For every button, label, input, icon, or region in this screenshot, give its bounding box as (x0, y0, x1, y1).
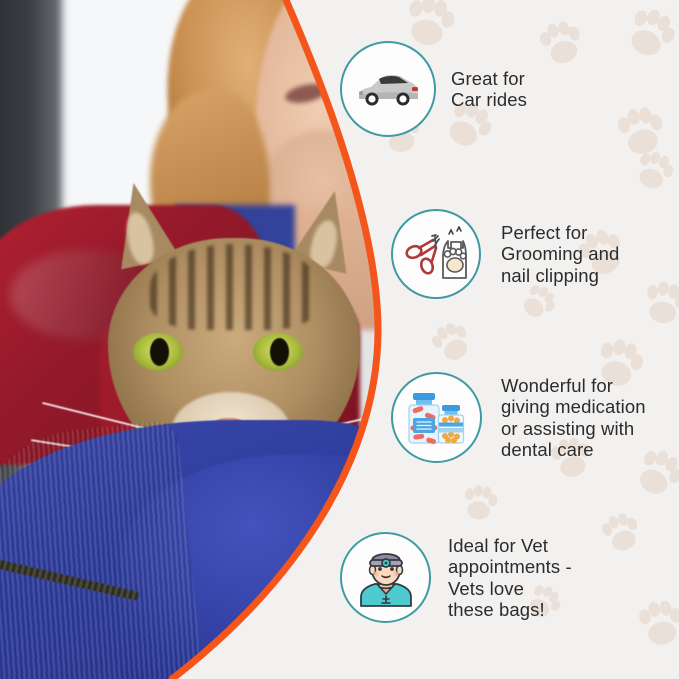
car-icon (355, 68, 421, 110)
feature-label: Perfect for Grooming and nail clipping (501, 222, 619, 287)
feature-list: Great for Car rides (0, 0, 679, 679)
feature-item-grooming[interactable]: Perfect for Grooming and nail clipping (391, 209, 619, 299)
feature-label: Wonderful for giving medication or assis… (501, 375, 646, 461)
feature-icon-circle (340, 41, 436, 137)
feature-item-vet-appointments[interactable]: Ideal for Vet appointments - Vets love t… (340, 532, 572, 623)
nail-clippers-paw-icon (405, 226, 467, 282)
feature-icon-circle (391, 372, 482, 463)
feature-item-medication[interactable]: Wonderful for giving medication or assis… (391, 372, 646, 463)
product-feature-graphic: Great for Car rides (0, 0, 679, 679)
medicine-bottles-icon (406, 389, 468, 447)
feature-label: Great for Car rides (451, 68, 527, 111)
veterinarian-icon (355, 548, 417, 608)
feature-icon-circle (391, 209, 481, 299)
feature-item-car-rides[interactable]: Great for Car rides (340, 41, 527, 137)
feature-label: Ideal for Vet appointments - Vets love t… (448, 535, 572, 621)
feature-icon-circle (340, 532, 431, 623)
